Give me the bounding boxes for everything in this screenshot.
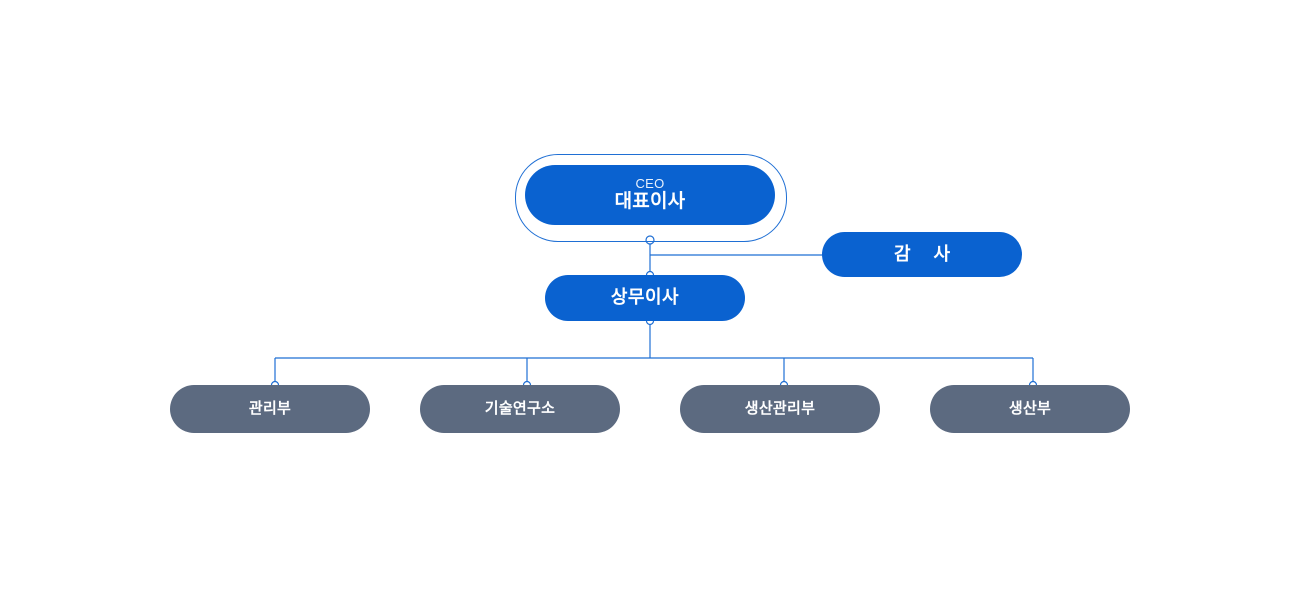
node-audit-label: 감 사 (885, 245, 959, 265)
node-director[interactable]: 상무이사 (545, 275, 745, 321)
node-department-production[interactable]: 생산부 (930, 385, 1130, 433)
node-department-management[interactable]: 관리부 (170, 385, 370, 433)
node-department-label: 관리부 (249, 401, 291, 418)
node-ceo-label: 대표이사 (615, 192, 686, 213)
node-department-research[interactable]: 기술연구소 (420, 385, 620, 433)
node-department-label: 기술연구소 (485, 401, 556, 418)
node-director-label: 상무이사 (611, 288, 679, 308)
node-department-label: 생산관리부 (745, 401, 816, 418)
node-department-label: 생산부 (1009, 401, 1051, 418)
node-ceo-eyebrow: CEO (635, 177, 664, 191)
node-ceo[interactable]: CEO 대표이사 (525, 165, 775, 225)
node-department-production-management[interactable]: 생산관리부 (680, 385, 880, 433)
node-audit[interactable]: 감 사 (822, 232, 1022, 277)
org-chart: CEO 대표이사 감 사 상무이사 관리부 기술연구소 생산관리부 생산부 (0, 0, 1300, 600)
